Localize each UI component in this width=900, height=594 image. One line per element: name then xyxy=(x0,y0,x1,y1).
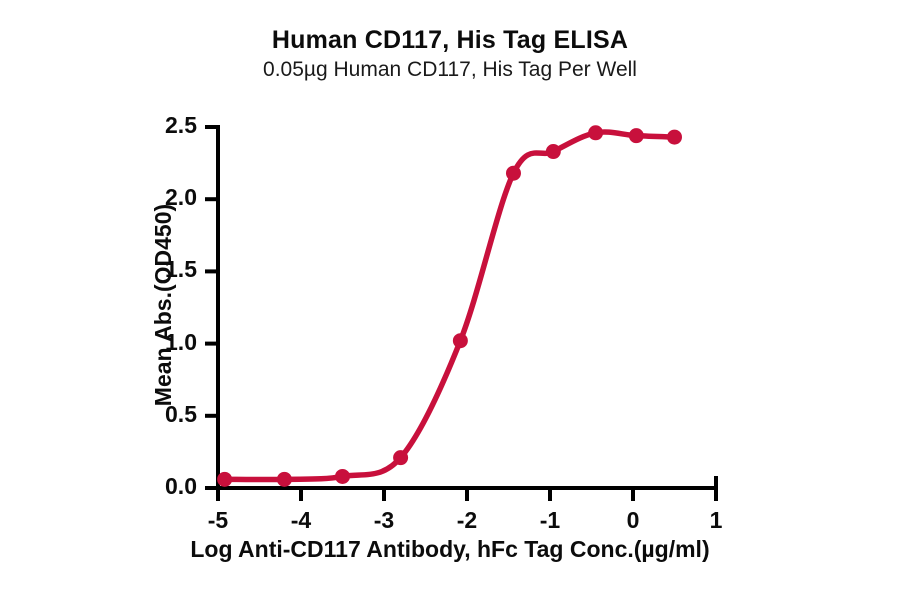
x-tick-label: -3 xyxy=(362,507,406,534)
x-tick-label: 1 xyxy=(694,507,738,534)
axis-lines xyxy=(206,125,718,488)
plot-area xyxy=(0,0,900,594)
tick-marks xyxy=(205,127,716,501)
y-tick-label: 1.0 xyxy=(127,329,197,356)
x-tick-label: -2 xyxy=(445,507,489,534)
data-point-4 xyxy=(453,333,468,348)
data-point-7 xyxy=(588,125,603,140)
data-point-0 xyxy=(217,472,232,487)
data-point-6 xyxy=(546,144,561,159)
data-point-8 xyxy=(629,128,644,143)
y-tick-label: 0.5 xyxy=(127,401,197,428)
y-tick-label: 2.0 xyxy=(127,184,197,211)
data-point-5 xyxy=(506,166,521,181)
data-point-9 xyxy=(667,130,682,145)
data-markers xyxy=(217,125,682,487)
data-point-1 xyxy=(277,472,292,487)
y-tick-label: 2.5 xyxy=(127,112,197,139)
x-tick-label: 0 xyxy=(611,507,655,534)
data-point-2 xyxy=(335,469,350,484)
data-point-3 xyxy=(393,450,408,465)
elisa-chart-figure: Human CD117, His Tag ELISA 0.05µg Human … xyxy=(0,0,900,594)
x-tick-label: -4 xyxy=(279,507,323,534)
x-tick-label: -1 xyxy=(528,507,572,534)
y-tick-label: 1.5 xyxy=(127,256,197,283)
series-line-0 xyxy=(225,132,675,480)
data-curve xyxy=(225,132,675,480)
y-tick-label: 0.0 xyxy=(127,473,197,500)
x-tick-label: -5 xyxy=(196,507,240,534)
